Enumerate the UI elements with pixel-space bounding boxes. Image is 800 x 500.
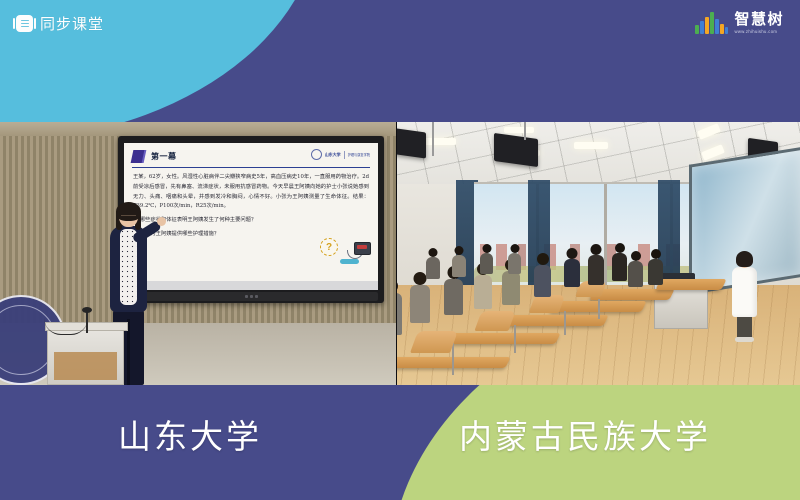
university-labels: 山东大学 内蒙古民族大学 [0, 385, 800, 500]
video-panels: 第一幕 山东大学 护理与康复学院 王某，62岁，女性。风湿性心脏病伴二尖瓣狭窄病… [0, 122, 800, 385]
slide-title: 第一幕 [151, 151, 177, 162]
logo-bar-4 [710, 12, 713, 34]
logo-bar-2 [700, 21, 703, 34]
logo-bar-6 [720, 24, 723, 34]
slide-accent-chip [131, 150, 145, 163]
slide-question-2: 2. 你将为王阿姨提供哪些护理措施？ [133, 230, 369, 240]
zhihuishu-logo: 智慧树 www.zhihuishu.com [695, 12, 784, 34]
question-badge-icon: ? [320, 238, 338, 256]
label-right-university: 内蒙古民族大学 [459, 410, 711, 458]
logo-bar-5 [715, 19, 718, 34]
logo-bar-1 [695, 25, 698, 34]
bp-monitor-illustration [340, 242, 372, 264]
ceiling-light-4 [574, 142, 608, 149]
slide-case-text: 王某，62岁，女性。风湿性心脏病伴二尖瓣狭窄病史5年，高血压病史10年，一直服用… [133, 173, 369, 212]
ceiling-light-1 [422, 138, 456, 145]
logo-name: 智慧树 [734, 12, 784, 27]
slide-university-logo: 山东大学 护理与康复学院 [311, 149, 370, 160]
university-seal-icon [311, 149, 322, 160]
microphone [86, 311, 88, 333]
logo-bar-7 [725, 27, 728, 34]
logo-url: www.zhihuishu.com [734, 30, 777, 34]
classroom-video[interactable] [396, 122, 800, 385]
label-left-university: 山东大学 [118, 410, 262, 458]
lecture-room-video[interactable]: 第一幕 山东大学 护理与康复学院 王某，62岁，女性。风湿性心脏病伴二尖瓣狭窄病… [0, 122, 396, 385]
tv-support-2 [524, 122, 526, 140]
slide-logo-sub: 护理与康复学院 [348, 153, 370, 157]
slide-question-1: 1. 哪些症状和体征表明王阿姨发生了何种主要问题？ [133, 216, 369, 226]
logo-bars-icon [695, 12, 728, 34]
slide-header: 第一幕 山东大学 护理与康复学院 [132, 146, 370, 168]
display-bezel [124, 292, 378, 301]
ceiling-light-2 [504, 127, 534, 133]
wall-top-trim [0, 122, 396, 136]
sync-classroom-icon [16, 15, 33, 32]
display-taskbar [124, 281, 378, 290]
screen-root: 同步课堂 智慧树 www.zhihuishu.com 第一幕 [0, 0, 800, 500]
ceiling-tv-left [396, 127, 426, 158]
tv-support-1 [432, 122, 434, 156]
brand-label: 同步课堂 [40, 13, 104, 34]
ceiling-tv-mid [494, 133, 538, 167]
brand: 同步课堂 [16, 13, 104, 34]
slide-logo-name: 山东大学 [325, 152, 341, 158]
panel-divider [396, 122, 397, 385]
student-desks [396, 241, 800, 385]
slide-logo-divider [344, 151, 345, 159]
logo-wordmark: 智慧树 www.zhihuishu.com [734, 12, 784, 34]
logo-bar-3 [705, 17, 708, 34]
